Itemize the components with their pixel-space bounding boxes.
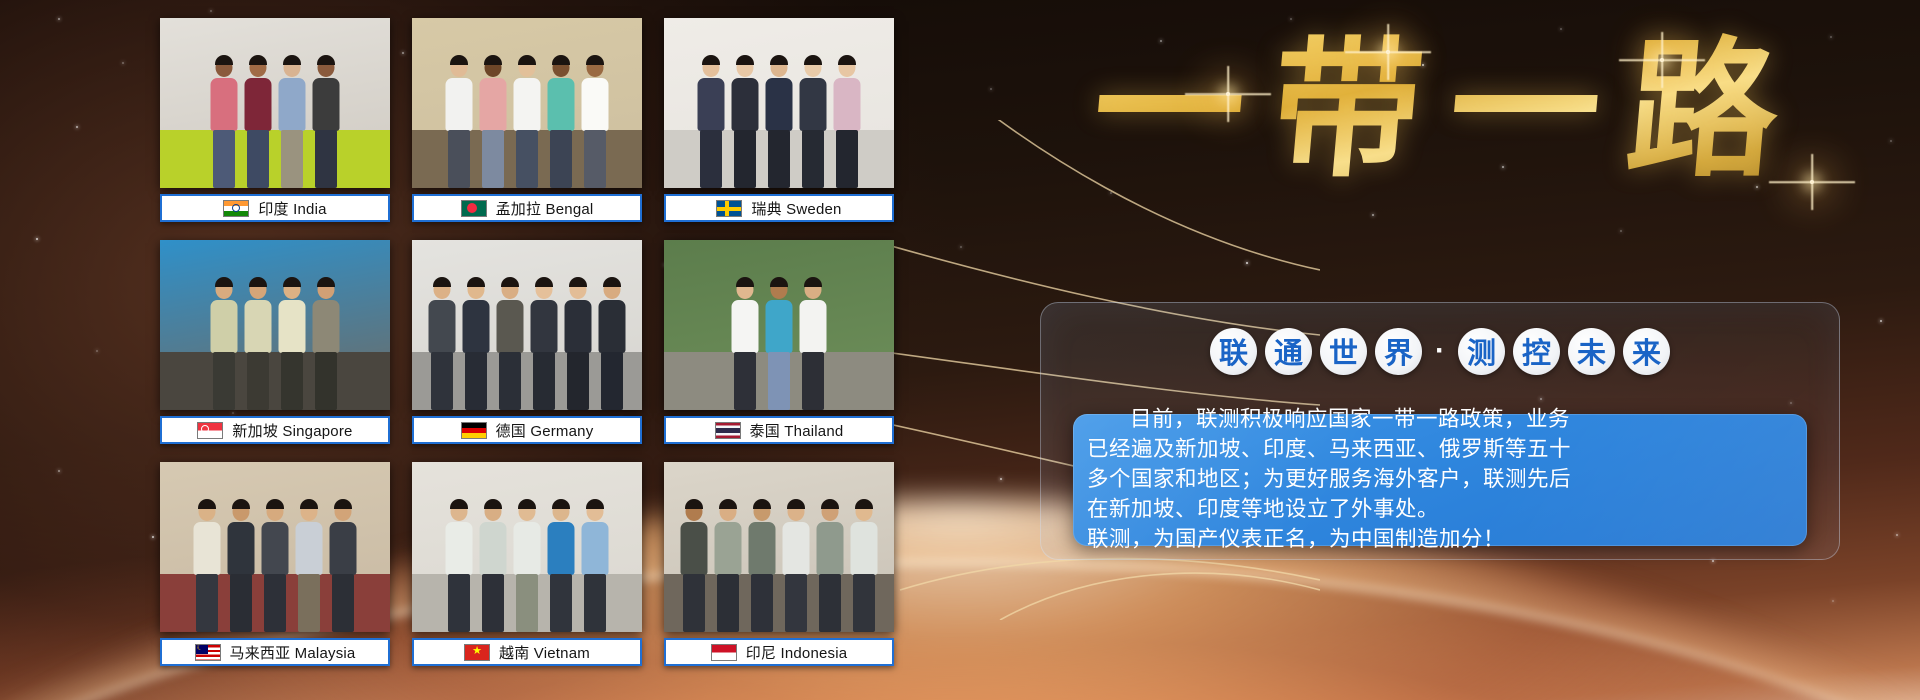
person-hair — [838, 55, 856, 65]
person-figure — [311, 277, 341, 410]
star-icon — [1110, 192, 1112, 194]
person-legs — [683, 574, 705, 632]
person-legs — [516, 574, 538, 632]
person-legs — [584, 130, 606, 188]
person-torso — [463, 300, 490, 353]
person-hair — [702, 55, 720, 65]
person-figure — [260, 499, 290, 632]
person-torso — [296, 522, 323, 575]
photo-people-group — [160, 499, 390, 632]
person-torso — [245, 300, 272, 353]
person-hair — [300, 499, 318, 509]
person-legs — [836, 130, 858, 188]
country-caption[interactable]: 印度 India — [160, 194, 390, 222]
person-figure — [849, 499, 879, 632]
person-hair — [569, 277, 587, 287]
country-caption-label: 孟加拉 Bengal — [496, 198, 594, 219]
person-hair — [501, 277, 519, 287]
star-icon — [76, 126, 78, 128]
person-figure — [798, 55, 828, 188]
person-legs — [448, 130, 470, 188]
person-hair — [484, 55, 502, 65]
person-figure — [512, 55, 542, 188]
slogan-row: 联通世界·测控未来 — [1040, 318, 1840, 384]
person-legs — [332, 574, 354, 632]
sparkle-icon-2 — [1386, 50, 1390, 54]
person-figure — [512, 499, 542, 632]
person-legs — [482, 574, 504, 632]
person-torso — [732, 78, 759, 131]
person-hair — [787, 499, 805, 509]
photo-singapore[interactable] — [160, 240, 390, 410]
gallery-cell[interactable]: 新加坡 Singapore — [160, 240, 390, 448]
person-hair — [334, 499, 352, 509]
star-icon — [1502, 166, 1504, 168]
description-line: 已经遍及新加坡、印度、马来西亚、俄罗斯等五十 — [1087, 435, 1791, 465]
photo-germany[interactable] — [412, 240, 642, 410]
sparkle-icon-1 — [1226, 92, 1230, 96]
country-caption[interactable]: 越南 Vietnam — [412, 638, 642, 666]
star-icon — [152, 536, 154, 538]
person-hair — [770, 277, 788, 287]
person-figure — [461, 277, 491, 410]
person-figure — [311, 55, 341, 188]
person-legs — [247, 130, 269, 188]
person-legs — [819, 574, 841, 632]
star-icon — [1832, 600, 1834, 602]
person-legs — [465, 352, 487, 410]
person-torso — [245, 78, 272, 131]
country-caption[interactable]: 孟加拉 Bengal — [412, 194, 642, 222]
star-icon — [990, 88, 992, 90]
person-legs — [802, 352, 824, 410]
person-figure — [679, 499, 709, 632]
star-icon — [1246, 262, 1248, 264]
person-figure — [730, 55, 760, 188]
person-torso — [715, 522, 742, 575]
country-caption-label: 印度 India — [258, 198, 326, 219]
person-legs — [853, 574, 875, 632]
person-torso — [548, 522, 575, 575]
description-textbox: 目前，联测积极响应国家一带一路政策，业务已经遍及新加坡、印度、马来西亚、俄罗斯等… — [1073, 414, 1807, 546]
person-torso — [446, 78, 473, 131]
person-figure — [713, 499, 743, 632]
person-legs — [499, 352, 521, 410]
thailand-flag-icon — [715, 422, 741, 439]
star-icon — [1000, 478, 1002, 480]
person-figure — [243, 277, 273, 410]
country-caption[interactable]: 泰国 Thailand — [664, 416, 894, 444]
person-hair — [770, 55, 788, 65]
person-figure — [529, 277, 559, 410]
star-icon — [96, 350, 98, 352]
star-icon — [58, 18, 60, 20]
person-torso — [531, 300, 558, 353]
person-torso — [514, 522, 541, 575]
star-icon — [1830, 36, 1832, 38]
person-hair — [736, 277, 754, 287]
country-caption-label: 新加坡 Singapore — [232, 420, 352, 441]
person-figure — [580, 55, 610, 188]
country-caption-label: 印尼 Indonesia — [746, 642, 848, 663]
person-torso — [749, 522, 776, 575]
slogan-char-badge: 测 — [1458, 328, 1505, 375]
person-legs — [734, 130, 756, 188]
photo-people-group — [412, 55, 642, 188]
person-torso — [698, 78, 725, 131]
person-legs — [734, 352, 756, 410]
person-torso — [599, 300, 626, 353]
person-figure — [781, 499, 811, 632]
star-icon — [960, 246, 962, 248]
person-legs — [213, 352, 235, 410]
slogan-char-badge: 世 — [1320, 328, 1367, 375]
person-torso — [851, 522, 878, 575]
person-hair — [317, 277, 335, 287]
person-torso — [800, 300, 827, 353]
sweden-flag-icon — [716, 200, 742, 217]
person-torso — [446, 522, 473, 575]
malaysia-flag-icon — [195, 644, 221, 661]
country-caption-label: 泰国 Thailand — [750, 420, 844, 441]
person-hair — [685, 499, 703, 509]
star-icon — [122, 62, 124, 64]
slogan-char-badge: 来 — [1623, 328, 1670, 375]
person-hair — [198, 499, 216, 509]
person-torso — [783, 522, 810, 575]
person-legs — [567, 352, 589, 410]
description-line: 联测，为国产仪表正名，为中国制造加分！ — [1087, 525, 1791, 555]
person-figure — [546, 55, 576, 188]
gallery-cell[interactable]: 印尼 Indonesia — [664, 462, 894, 670]
person-hair — [518, 55, 536, 65]
person-hair — [719, 499, 737, 509]
person-hair — [804, 277, 822, 287]
star-icon — [36, 238, 38, 240]
sparkle-icon-4 — [1810, 180, 1814, 184]
gallery-cell[interactable]: 马来西亚 Malaysia — [160, 462, 390, 670]
person-legs — [584, 574, 606, 632]
person-figure — [277, 55, 307, 188]
gallery-cell[interactable]: 印度 India — [160, 18, 390, 226]
person-figure — [192, 499, 222, 632]
country-caption-label: 马来西亚 Malaysia — [230, 642, 356, 663]
person-figure — [597, 277, 627, 410]
country-caption[interactable]: 瑞典 Sweden — [664, 194, 894, 222]
person-torso — [429, 300, 456, 353]
person-figure — [478, 499, 508, 632]
person-torso — [211, 300, 238, 353]
person-figure — [226, 499, 256, 632]
gallery-cell[interactable]: 德国 Germany — [412, 240, 642, 448]
person-torso — [194, 522, 221, 575]
person-hair — [450, 499, 468, 509]
person-torso — [834, 78, 861, 131]
belt-and-road-banner: 印度 India孟加拉 Bengal瑞典 Sweden新加坡 Singapore… — [0, 0, 1920, 700]
country-photo-grid: 印度 India孟加拉 Bengal瑞典 Sweden新加坡 Singapore… — [160, 18, 920, 686]
person-figure — [546, 499, 576, 632]
person-torso — [262, 522, 289, 575]
person-figure — [798, 277, 828, 410]
person-torso — [313, 78, 340, 131]
star-icon — [1700, 72, 1702, 74]
person-torso — [228, 522, 255, 575]
person-torso — [732, 300, 759, 353]
photo-sweden[interactable] — [664, 18, 894, 188]
person-legs — [264, 574, 286, 632]
person-figure — [696, 55, 726, 188]
photo-people-group — [664, 499, 894, 632]
person-hair — [753, 499, 771, 509]
bangladesh-flag-icon — [461, 200, 487, 217]
person-legs — [785, 574, 807, 632]
star-icon — [1880, 320, 1882, 322]
person-hair — [586, 55, 604, 65]
person-figure — [580, 499, 610, 632]
person-figure — [563, 277, 593, 410]
star-icon — [1896, 534, 1898, 536]
person-figure — [444, 499, 474, 632]
star-icon — [1756, 186, 1758, 188]
slogan-char-badge: 控 — [1513, 328, 1560, 375]
person-legs — [315, 130, 337, 188]
person-hair — [467, 277, 485, 287]
photo-people-group — [664, 55, 894, 188]
country-caption[interactable]: 德国 Germany — [412, 416, 642, 444]
description-line: 多个国家和地区；为更好服务海外客户，联测先后 — [1087, 465, 1791, 495]
person-figure — [495, 277, 525, 410]
description-line: 目前，联测积极响应国家一带一路政策，业务 — [1087, 405, 1791, 435]
slogan-char-badge: 通 — [1265, 328, 1312, 375]
sparkle-icon-3 — [1660, 58, 1664, 62]
person-legs — [247, 352, 269, 410]
slogan-separator-dot: · — [1430, 336, 1450, 366]
person-torso — [497, 300, 524, 353]
person-hair — [249, 277, 267, 287]
star-icon — [1160, 40, 1162, 42]
person-figure — [209, 55, 239, 188]
person-hair — [586, 499, 604, 509]
person-legs — [768, 130, 790, 188]
person-legs — [751, 574, 773, 632]
person-hair — [821, 499, 839, 509]
person-legs — [298, 574, 320, 632]
person-torso — [313, 300, 340, 353]
star-icon — [1290, 18, 1292, 20]
person-hair — [535, 277, 553, 287]
star-icon — [1560, 28, 1562, 30]
person-torso — [211, 78, 238, 131]
person-legs — [700, 130, 722, 188]
person-hair — [283, 55, 301, 65]
person-torso — [330, 522, 357, 575]
slogan-char-badge: 联 — [1210, 328, 1257, 375]
photo-people-group — [160, 277, 390, 410]
person-hair — [552, 55, 570, 65]
person-hair — [215, 55, 233, 65]
photo-people-group — [664, 277, 894, 410]
person-legs — [281, 352, 303, 410]
person-figure — [328, 499, 358, 632]
person-figure — [730, 277, 760, 410]
person-figure — [832, 55, 862, 188]
photo-india[interactable] — [160, 18, 390, 188]
country-caption-label: 瑞典 Sweden — [751, 198, 841, 219]
person-legs — [802, 130, 824, 188]
photo-people-group — [160, 55, 390, 188]
photo-thailand[interactable] — [664, 240, 894, 410]
person-torso — [800, 78, 827, 131]
photo-bengal[interactable] — [412, 18, 642, 188]
person-legs — [315, 352, 337, 410]
india-flag-icon — [223, 200, 249, 217]
person-figure — [478, 55, 508, 188]
person-figure — [747, 499, 777, 632]
country-caption[interactable]: 马来西亚 Malaysia — [160, 638, 390, 666]
germany-flag-icon — [461, 422, 487, 439]
slogan-char-badge: 未 — [1568, 328, 1615, 375]
person-hair — [317, 55, 335, 65]
person-legs — [431, 352, 453, 410]
person-figure — [209, 277, 239, 410]
person-torso — [480, 78, 507, 131]
person-legs — [482, 130, 504, 188]
country-caption-label: 德国 Germany — [496, 420, 594, 441]
person-torso — [766, 78, 793, 131]
country-caption[interactable]: 印尼 Indonesia — [664, 638, 894, 666]
person-torso — [548, 78, 575, 131]
person-legs — [230, 574, 252, 632]
gallery-cell[interactable]: 越南 Vietnam — [412, 462, 642, 670]
person-legs — [196, 574, 218, 632]
description-line: 在新加坡、印度等地设立了外事处。 — [1087, 495, 1791, 525]
person-legs — [601, 352, 623, 410]
person-hair — [283, 277, 301, 287]
person-legs — [281, 130, 303, 188]
person-hair — [232, 499, 250, 509]
vietnam-flag-icon — [464, 644, 490, 661]
gallery-cell[interactable]: 瑞典 Sweden — [664, 18, 894, 226]
person-figure — [764, 55, 794, 188]
person-hair — [450, 55, 468, 65]
person-hair — [552, 499, 570, 509]
indonesia-flag-icon — [711, 644, 737, 661]
person-torso — [279, 300, 306, 353]
person-hair — [855, 499, 873, 509]
person-figure — [294, 499, 324, 632]
person-hair — [215, 277, 233, 287]
gallery-cell[interactable]: 泰国 Thailand — [664, 240, 894, 448]
photo-people-group — [412, 277, 642, 410]
person-figure — [277, 277, 307, 410]
person-hair — [484, 499, 502, 509]
person-torso — [565, 300, 592, 353]
person-torso — [480, 522, 507, 575]
person-hair — [603, 277, 621, 287]
person-figure — [427, 277, 457, 410]
person-torso — [582, 522, 609, 575]
singapore-flag-icon — [197, 422, 223, 439]
person-legs — [448, 574, 470, 632]
person-figure — [243, 55, 273, 188]
person-torso — [817, 522, 844, 575]
photo-indonesia[interactable] — [664, 462, 894, 632]
person-hair — [736, 55, 754, 65]
person-hair — [518, 499, 536, 509]
country-caption[interactable]: 新加坡 Singapore — [160, 416, 390, 444]
person-legs — [550, 574, 572, 632]
person-torso — [766, 300, 793, 353]
person-figure — [815, 499, 845, 632]
headline-text: 一带一路 — [1021, 10, 1878, 210]
person-legs — [213, 130, 235, 188]
star-icon — [210, 10, 212, 12]
star-icon — [1372, 214, 1374, 216]
star-icon — [1620, 230, 1622, 232]
photo-people-group — [412, 499, 642, 632]
star-icon — [1712, 560, 1714, 562]
star-icon — [1890, 140, 1892, 142]
person-hair — [266, 499, 284, 509]
person-figure — [764, 277, 794, 410]
gallery-cell[interactable]: 孟加拉 Bengal — [412, 18, 642, 226]
headline-belt-and-road: 一带一路 — [1030, 10, 1870, 220]
person-figure — [444, 55, 474, 188]
photo-malaysia[interactable] — [160, 462, 390, 632]
person-hair — [249, 55, 267, 65]
person-legs — [516, 130, 538, 188]
person-legs — [550, 130, 572, 188]
person-legs — [768, 352, 790, 410]
person-legs — [717, 574, 739, 632]
person-torso — [681, 522, 708, 575]
slogan-char-badge: 界 — [1375, 328, 1422, 375]
photo-vietnam[interactable] — [412, 462, 642, 632]
person-torso — [582, 78, 609, 131]
person-legs — [533, 352, 555, 410]
star-icon — [1422, 64, 1424, 66]
person-torso — [514, 78, 541, 131]
person-hair — [433, 277, 451, 287]
star-icon — [58, 470, 60, 472]
country-caption-label: 越南 Vietnam — [499, 642, 590, 663]
person-torso — [279, 78, 306, 131]
person-hair — [804, 55, 822, 65]
